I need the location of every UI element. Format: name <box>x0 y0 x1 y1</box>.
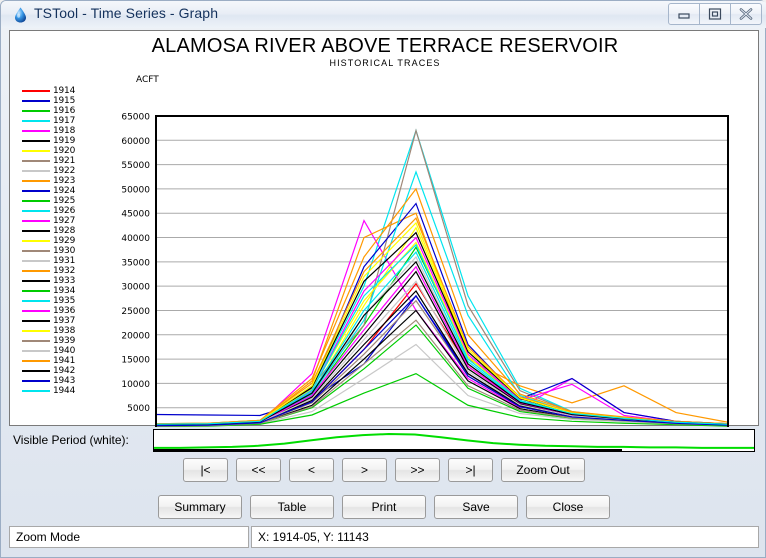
nav-page-back-button[interactable]: << <box>236 458 281 482</box>
y-axis-tick-label: 35000 <box>121 258 150 268</box>
nav-forward-button[interactable]: > <box>342 458 387 482</box>
visible-period-row: Visible Period (white): <box>9 429 759 453</box>
water-drop-icon <box>13 7 28 23</box>
chart-series-line <box>156 131 728 424</box>
chart-series-line <box>156 223 728 424</box>
minimize-icon <box>677 9 691 19</box>
y-axis-tick-label: 60000 <box>121 137 150 147</box>
action-button-row: SummaryTablePrintSaveClose <box>1 495 766 519</box>
window-title: TSTool - Time Series - Graph <box>34 5 218 21</box>
close-button[interactable] <box>730 3 762 25</box>
close-icon <box>738 7 754 21</box>
window-controls <box>669 3 762 25</box>
period-overview-graph <box>154 430 754 451</box>
y-axis-tick-label: 45000 <box>121 210 150 220</box>
y-axis-tick-label: 10000 <box>121 380 150 390</box>
nav-zoom-out-button[interactable]: Zoom Out <box>501 458 585 482</box>
chart-plot-area[interactable]: 0500010000150002000025000300003500040000… <box>10 31 760 427</box>
close-button[interactable]: Close <box>526 495 610 519</box>
minimize-button[interactable] <box>668 3 700 25</box>
save-button[interactable]: Save <box>434 495 518 519</box>
chart-series-line <box>156 204 728 426</box>
visible-period-strip[interactable] <box>153 429 755 452</box>
period-overview-line <box>154 434 754 448</box>
y-axis-tick-label: 40000 <box>121 234 150 244</box>
nav-last-button[interactable]: >| <box>448 458 493 482</box>
chart-series-line <box>156 131 728 425</box>
y-axis-tick-label: 5000 <box>127 404 150 414</box>
nav-first-button[interactable]: |< <box>183 458 228 482</box>
y-axis-tick-label: 50000 <box>121 185 150 195</box>
chart-series-line <box>156 284 728 426</box>
y-axis-tick-label: 20000 <box>121 331 150 341</box>
chart-series-line <box>156 325 728 426</box>
restore-button[interactable] <box>699 3 731 25</box>
y-axis-tick-label: 25000 <box>121 307 150 317</box>
y-axis-tick-label: 65000 <box>121 113 150 123</box>
window-titlebar: TSTool - Time Series - Graph <box>1 1 766 28</box>
y-axis-tick-label: 15000 <box>121 356 150 366</box>
y-axis-tick-label: 30000 <box>121 283 150 293</box>
nav-page-forward-button[interactable]: >> <box>395 458 440 482</box>
status-bar: Zoom Mode X: 1914-05, Y: 11143 <box>9 526 759 548</box>
chart-series-line <box>156 310 728 426</box>
y-axis-tick-label: 55000 <box>121 161 150 171</box>
tstool-graph-window: TSTool - Time Series - Graph <box>0 0 766 558</box>
visible-period-label: Visible Period (white): <box>13 433 129 447</box>
chart-series-line <box>156 221 728 426</box>
graph-panel: ALAMOSA RIVER ABOVE TERRACE RESERVOIR HI… <box>9 30 759 426</box>
status-mode: Zoom Mode <box>9 526 249 548</box>
table-button[interactable]: Table <box>250 495 334 519</box>
navigation-button-row: |<<<<>>>>|Zoom Out <box>1 458 766 482</box>
chart-series-line <box>156 242 728 424</box>
restore-icon <box>708 8 722 20</box>
nav-back-button[interactable]: < <box>289 458 334 482</box>
print-button[interactable]: Print <box>342 495 426 519</box>
summary-button[interactable]: Summary <box>158 495 242 519</box>
status-coordinates: X: 1914-05, Y: 11143 <box>251 526 759 548</box>
